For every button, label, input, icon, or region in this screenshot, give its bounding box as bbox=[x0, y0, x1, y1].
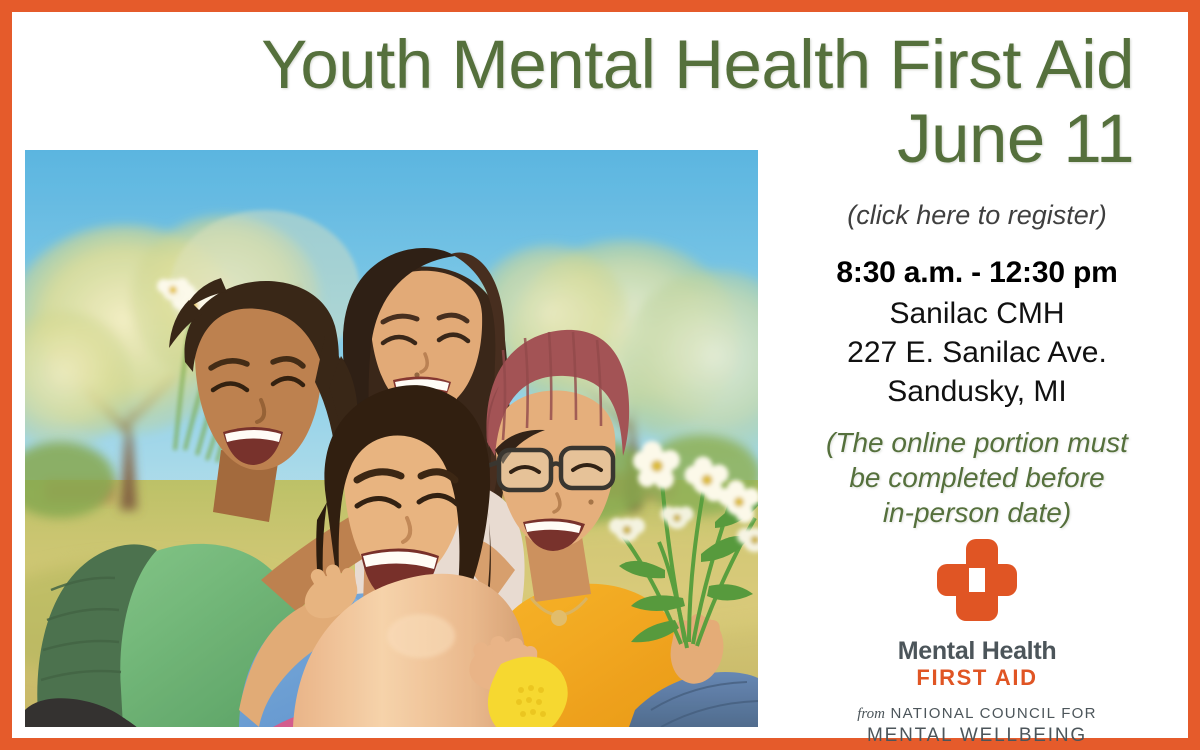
logo-line-first-aid: FIRST AID bbox=[764, 665, 1190, 691]
online-portion-note: (The online portion must be completed be… bbox=[764, 425, 1190, 530]
flyer-canvas: Youth Mental Health First Aid June 11 bbox=[0, 0, 1200, 750]
logo-from-word: from bbox=[857, 706, 885, 722]
online-note-line-1: (The online portion must bbox=[764, 425, 1190, 460]
logo-council-text: NATIONAL COUNCIL FOR bbox=[890, 705, 1096, 722]
register-link[interactable]: (click here to register) bbox=[764, 198, 1190, 232]
online-note-line-2: be completed before bbox=[764, 460, 1190, 495]
event-city-state: Sandusky, MI bbox=[764, 372, 1190, 411]
mhfa-logo: Mental Health FIRST AID from NATIONAL CO… bbox=[764, 537, 1190, 747]
logo-org-line: MENTAL WELLBEING bbox=[764, 724, 1190, 747]
page-title: Youth Mental Health First Aid bbox=[72, 28, 1134, 102]
logo-line-mental-health: Mental Health bbox=[764, 637, 1190, 665]
event-time: 8:30 a.m. - 12:30 pm bbox=[764, 252, 1190, 294]
hero-photo bbox=[25, 150, 758, 727]
event-venue: Sanilac CMH bbox=[764, 294, 1190, 333]
event-street: 227 E. Sanilac Ave. bbox=[764, 333, 1190, 372]
event-details: (click here to register) 8:30 a.m. - 12:… bbox=[764, 198, 1190, 530]
logo-from-line: from NATIONAL COUNCIL FOR bbox=[764, 704, 1190, 724]
online-note-line-3: in-person date) bbox=[764, 495, 1190, 530]
mhfa-cross-icon bbox=[929, 537, 1025, 623]
park-photo-illustration bbox=[25, 150, 758, 727]
